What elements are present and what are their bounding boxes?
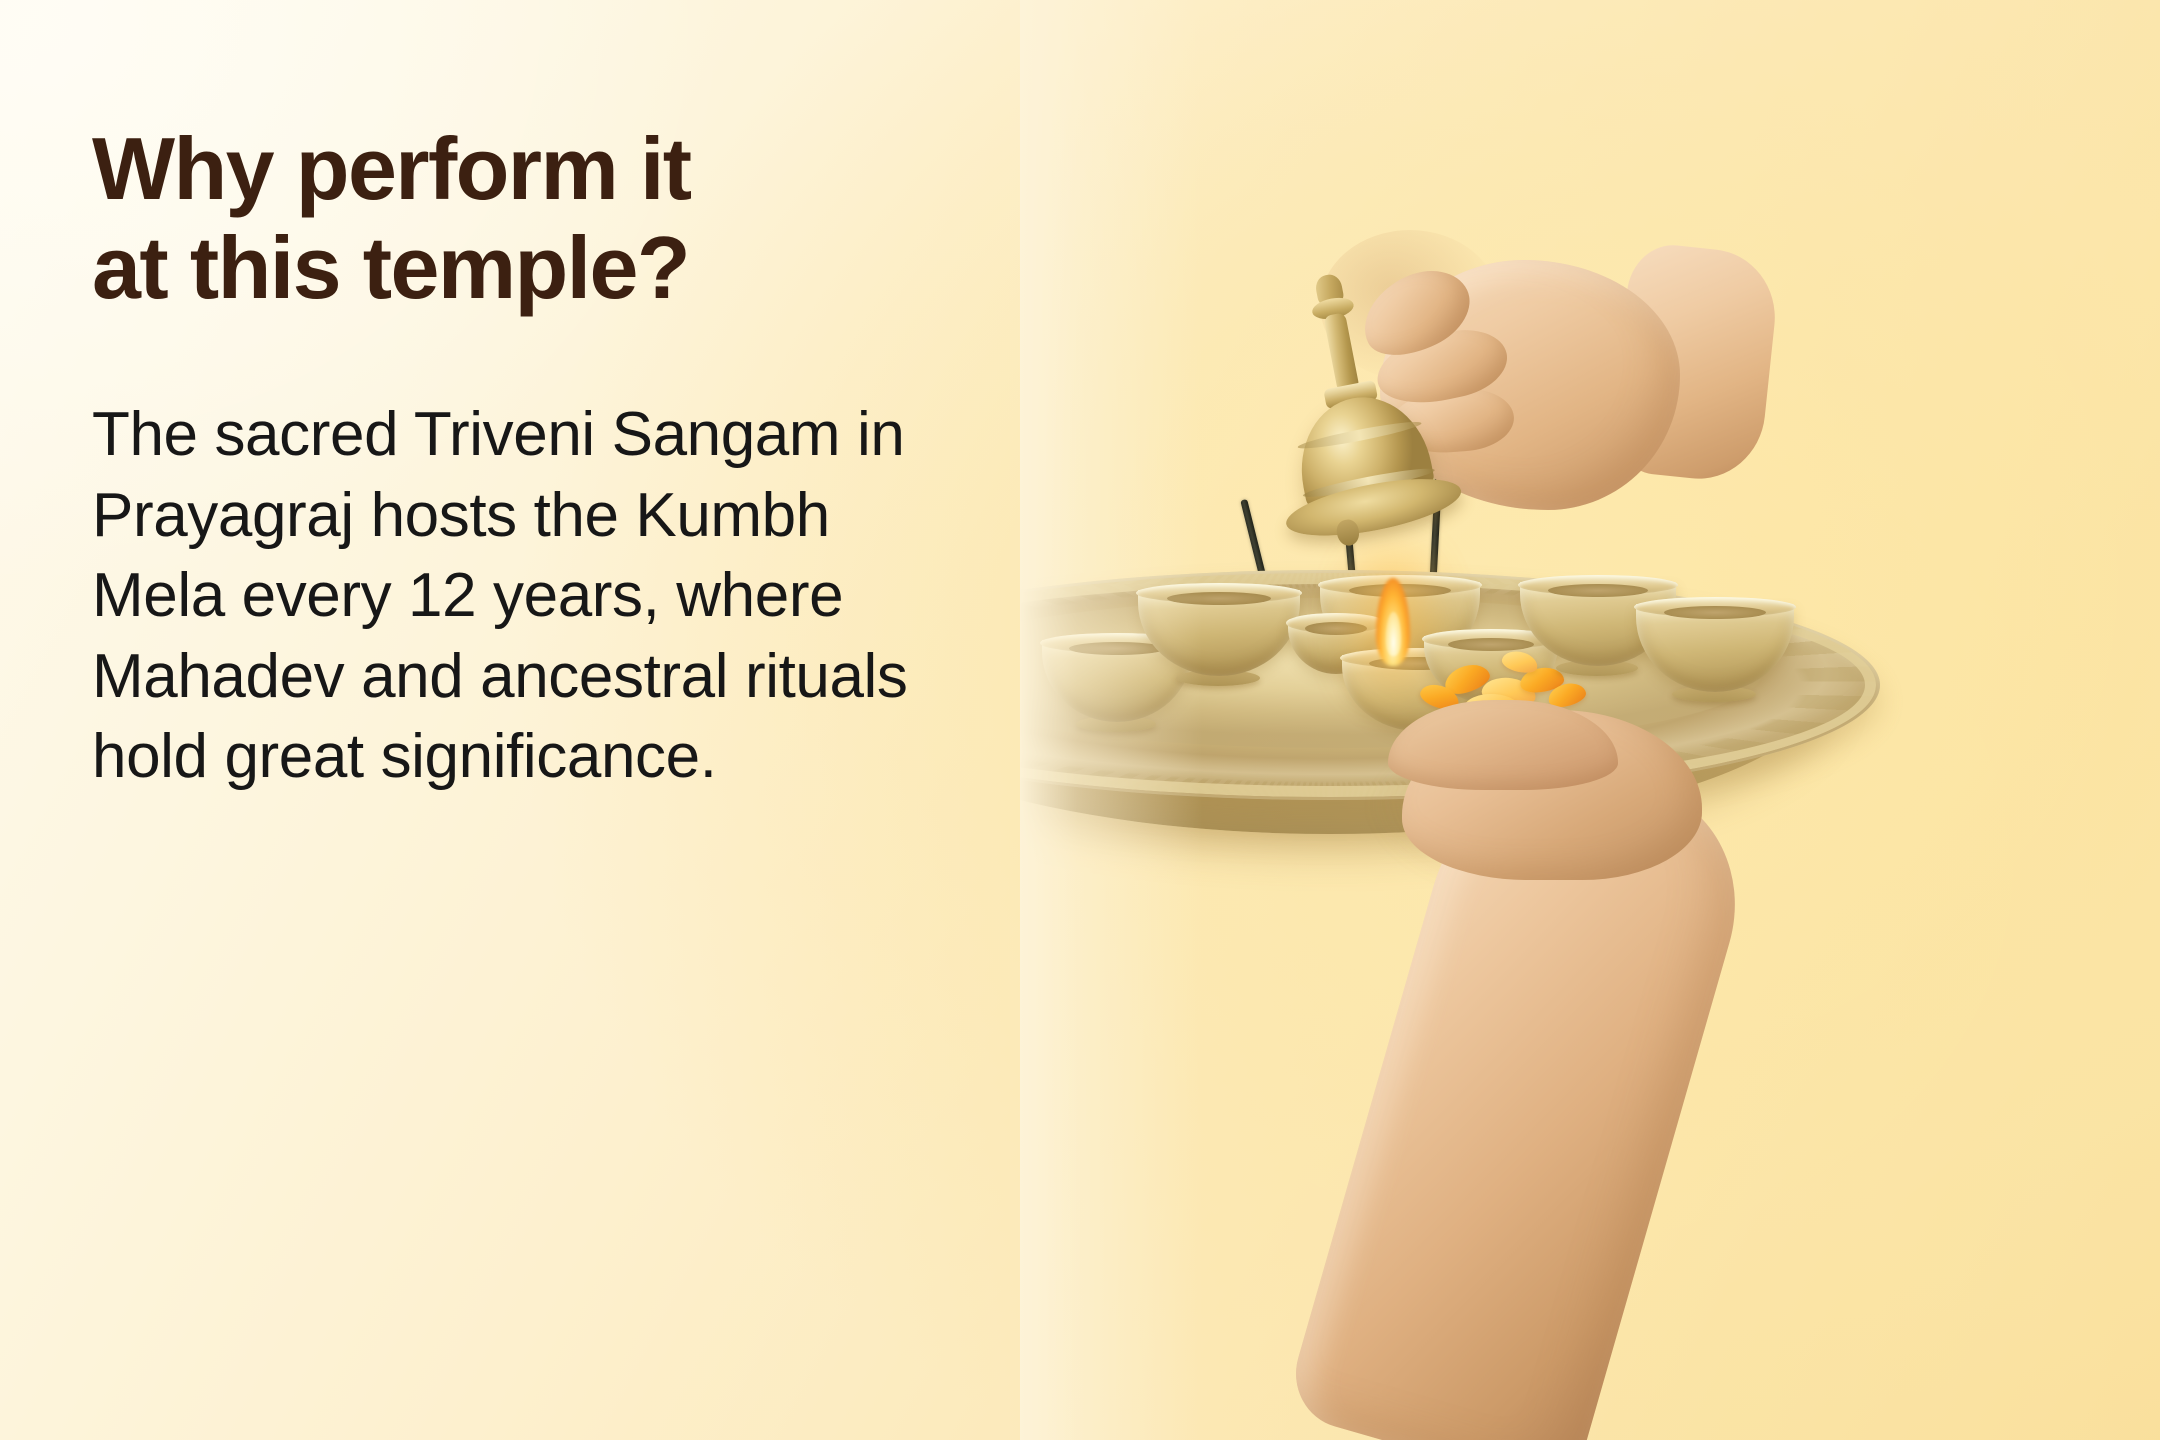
bell-stem: [1323, 312, 1359, 393]
text-column: Why perform it at this temple? The sacre…: [92, 120, 992, 798]
puja-photo: [1020, 0, 2160, 1440]
page-title: Why perform it at this temple?: [92, 120, 992, 317]
brass-bell-icon: [1227, 250, 1502, 549]
lower-arm: [1220, 700, 1840, 1440]
body-paragraph: The sacred Triveni Sangam in Prayagraj h…: [92, 395, 922, 798]
slide-canvas: Why perform it at this temple? The sacre…: [0, 0, 2160, 1440]
